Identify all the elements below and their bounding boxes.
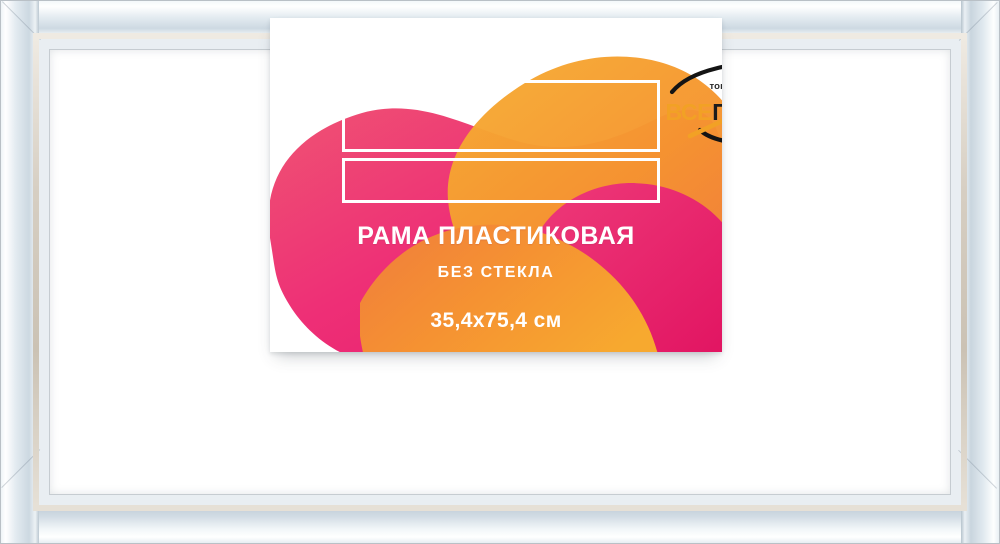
brand-logo: товары для художников ВСЕПОДРАМНИКИ (656, 56, 722, 148)
logo-word-primary: ВСЕ (665, 99, 712, 125)
product-label-card: РАМА ПЛАСТИКОВАЯ БЕЗ СТЕКЛА 35,4x75,4 см… (270, 18, 722, 352)
logo-word-secondary: ПОДРАМНИКИ (712, 99, 722, 125)
label-size: 35,4x75,4 см (270, 310, 722, 331)
logo-tagline: товары для художников (656, 82, 722, 92)
label-subtitle: БЕЗ СТЕКЛА (270, 265, 722, 281)
label-size-box (342, 158, 660, 203)
label-title: РАМА ПЛАСТИКОВАЯ (270, 224, 722, 249)
logo-wordmark: ВСЕПОДРАМНИКИ (656, 101, 722, 124)
label-text-block: РАМА ПЛАСТИКОВАЯ БЕЗ СТЕКЛА 35,4x75,4 см (270, 18, 722, 352)
label-title-box (342, 80, 660, 152)
